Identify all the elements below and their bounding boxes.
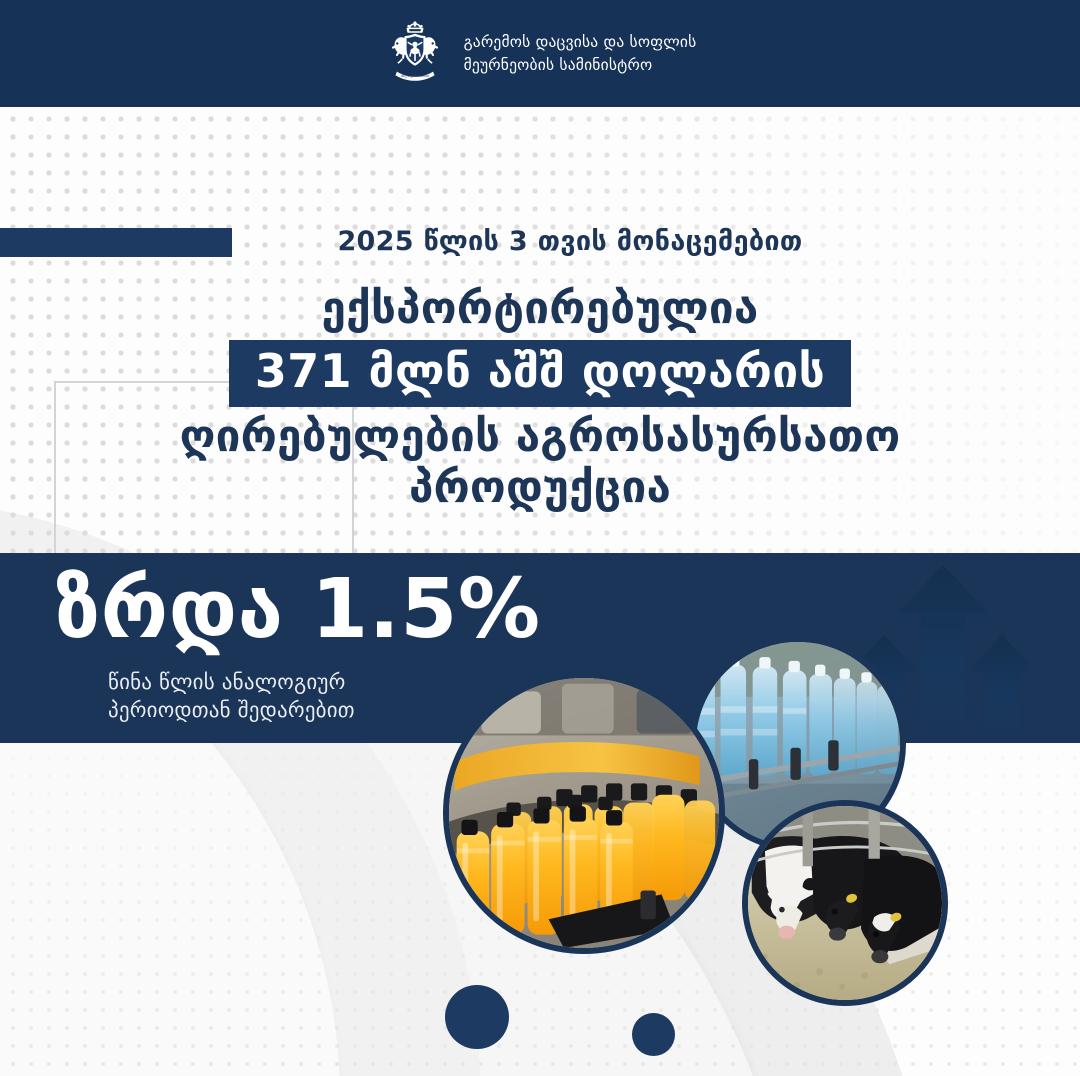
juice-bottling-line-photo xyxy=(443,672,725,954)
decorative-circle-small xyxy=(632,1013,675,1056)
headline-highlight-value: 371 მლნ აშშ დოლარის xyxy=(229,340,851,407)
report-period-label: 2025 წლის 3 თვის მონაცემებით xyxy=(0,226,1080,257)
growth-value: 1.5% xyxy=(311,562,540,657)
growth-comparison-note: წინა წლის ანალოგიურ პერიოდთან შედარებით xyxy=(108,669,355,725)
growth-headline: ზრდა 1.5% xyxy=(55,567,541,653)
infographic-poster: ძალა ერთობაშია გარემოს დაცვისა და სოფლის… xyxy=(0,0,1080,1076)
headline-line-1: ექსპორტირებულია xyxy=(0,283,1080,334)
georgia-coat-of-arms-icon: ძალა ერთობაშია xyxy=(384,18,446,90)
ministry-header: ძალა ერთობაშია გარემოს დაცვისა და სოფლის… xyxy=(0,0,1080,107)
ministry-name-label: გარემოს დაცვისა და სოფლის მეურნეობის სამ… xyxy=(464,31,697,76)
headline-block: ექსპორტირებულია 371 მლნ აშშ დოლარის ღირე… xyxy=(0,283,1080,513)
svg-text:ძალა ერთობაშია: ძალა ერთობაშია xyxy=(400,74,429,78)
decorative-circle-large xyxy=(445,985,509,1049)
headline-line-3: ღირებულების აგროსასურსათო xyxy=(0,411,1080,462)
dairy-cows-feeding-photo xyxy=(742,800,948,1006)
growth-label: ზრდა xyxy=(55,562,284,657)
headline-line-4: პროდუქცია xyxy=(0,462,1080,513)
